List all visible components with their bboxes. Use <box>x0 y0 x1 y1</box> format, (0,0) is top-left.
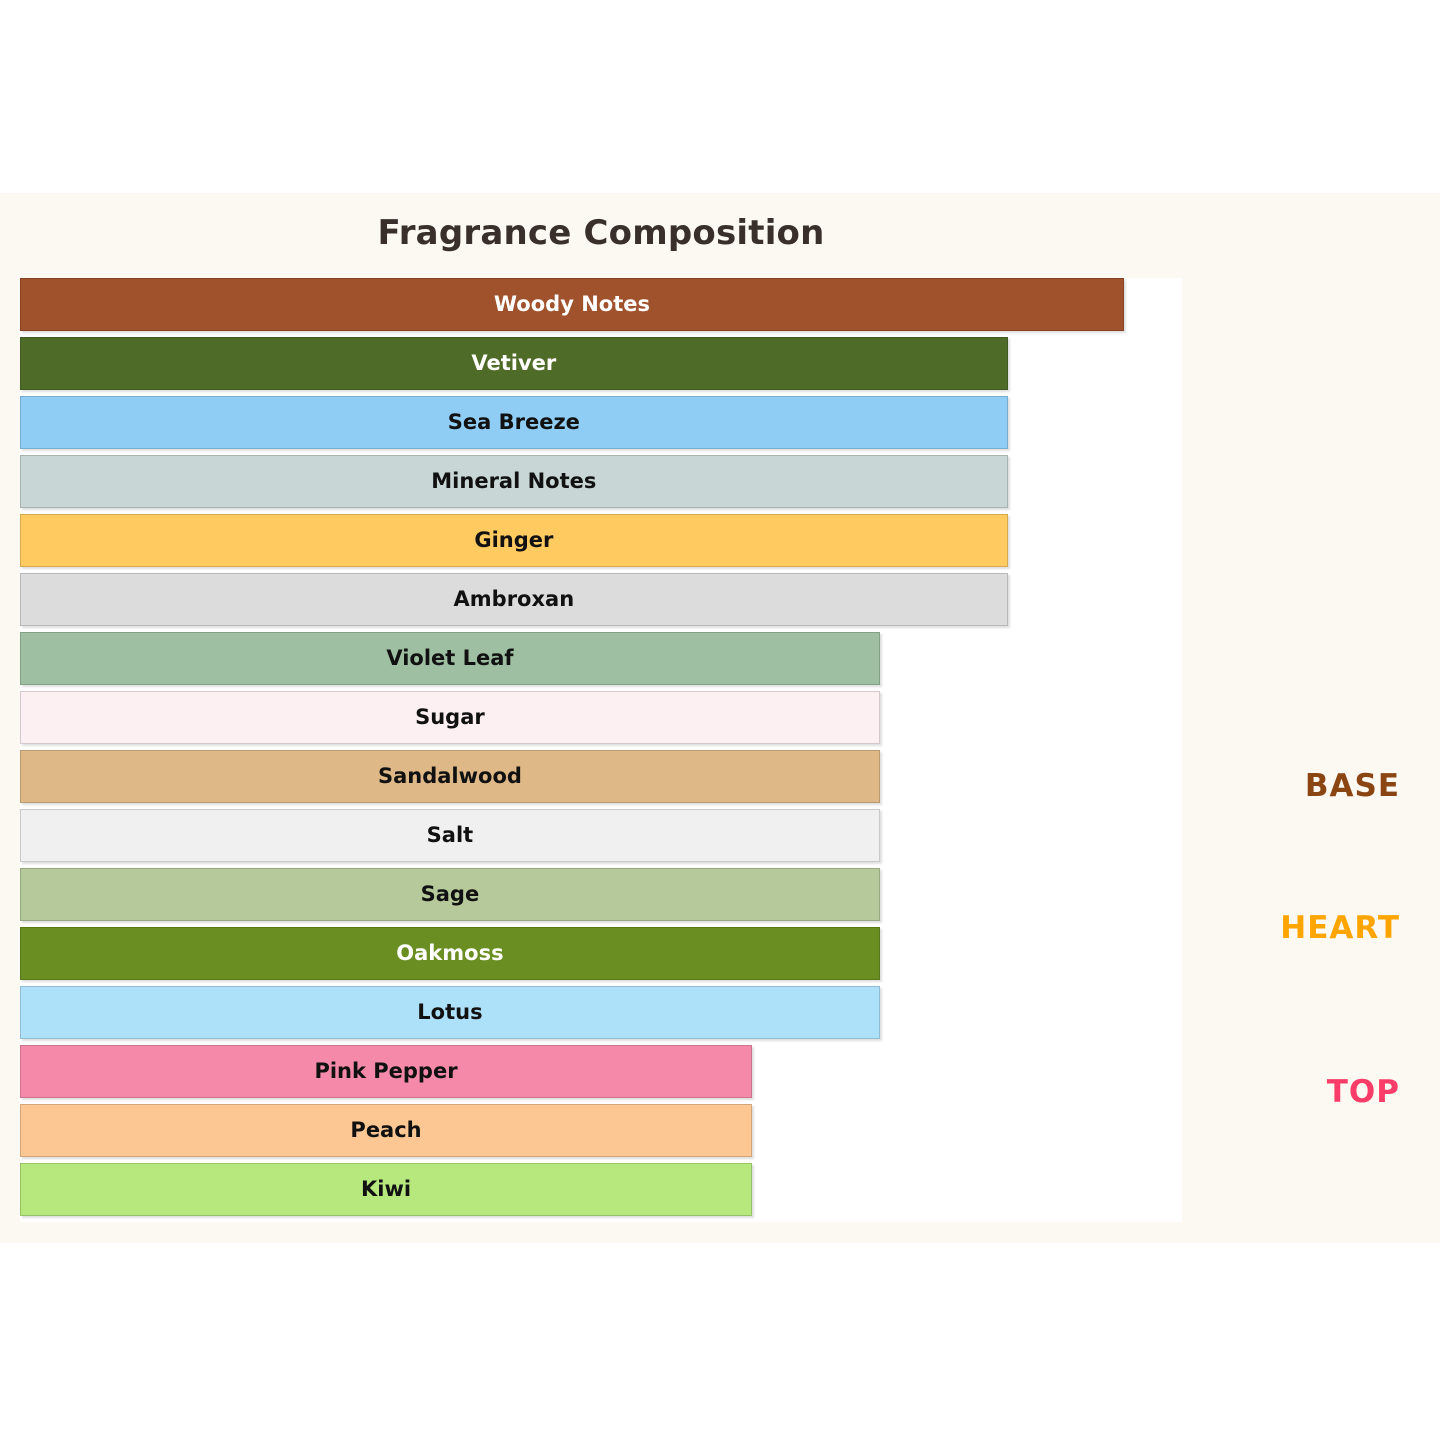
plot-area: Woody NotesVetiverSea BreezeMineral Note… <box>20 278 1182 1222</box>
bar-sugar[interactable] <box>20 691 880 744</box>
bar-row: Sage <box>20 868 1182 921</box>
chart-figure: Fragrance Composition Woody NotesVetiver… <box>0 193 1440 1243</box>
category-label-top: TOP <box>1327 1074 1400 1110</box>
bar-lotus[interactable] <box>20 986 880 1039</box>
bar-row: Woody Notes <box>20 278 1182 331</box>
category-label-heart: HEART <box>1280 910 1400 946</box>
category-label-base: BASE <box>1305 768 1400 804</box>
bar-row: Sandalwood <box>20 750 1182 803</box>
bar-row: Pink Pepper <box>20 1045 1182 1098</box>
bar-row: Vetiver <box>20 337 1182 390</box>
bar-row: Kiwi <box>20 1163 1182 1216</box>
bar-violet-leaf[interactable] <box>20 632 880 685</box>
bar-row: Salt <box>20 809 1182 862</box>
bar-pink-pepper[interactable] <box>20 1045 752 1098</box>
page-title: Fragrance Composition <box>20 213 1182 253</box>
bar-row: Violet Leaf <box>20 632 1182 685</box>
bar-vetiver[interactable] <box>20 337 1008 390</box>
bar-row: Sea Breeze <box>20 396 1182 449</box>
bar-row: Oakmoss <box>20 927 1182 980</box>
bar-row: Peach <box>20 1104 1182 1157</box>
bar-salt[interactable] <box>20 809 880 862</box>
bar-peach[interactable] <box>20 1104 752 1157</box>
bar-woody-notes[interactable] <box>20 278 1124 331</box>
bar-row: Ginger <box>20 514 1182 567</box>
bar-row: Mineral Notes <box>20 455 1182 508</box>
bar-row: Ambroxan <box>20 573 1182 626</box>
bar-sage[interactable] <box>20 868 880 921</box>
bar-ginger[interactable] <box>20 514 1008 567</box>
bar-ambroxan[interactable] <box>20 573 1008 626</box>
bar-row: Sugar <box>20 691 1182 744</box>
bar-mineral-notes[interactable] <box>20 455 1008 508</box>
bar-row: Lotus <box>20 986 1182 1039</box>
bar-oakmoss[interactable] <box>20 927 880 980</box>
bar-kiwi[interactable] <box>20 1163 752 1216</box>
bar-sandalwood[interactable] <box>20 750 880 803</box>
bar-sea-breeze[interactable] <box>20 396 1008 449</box>
